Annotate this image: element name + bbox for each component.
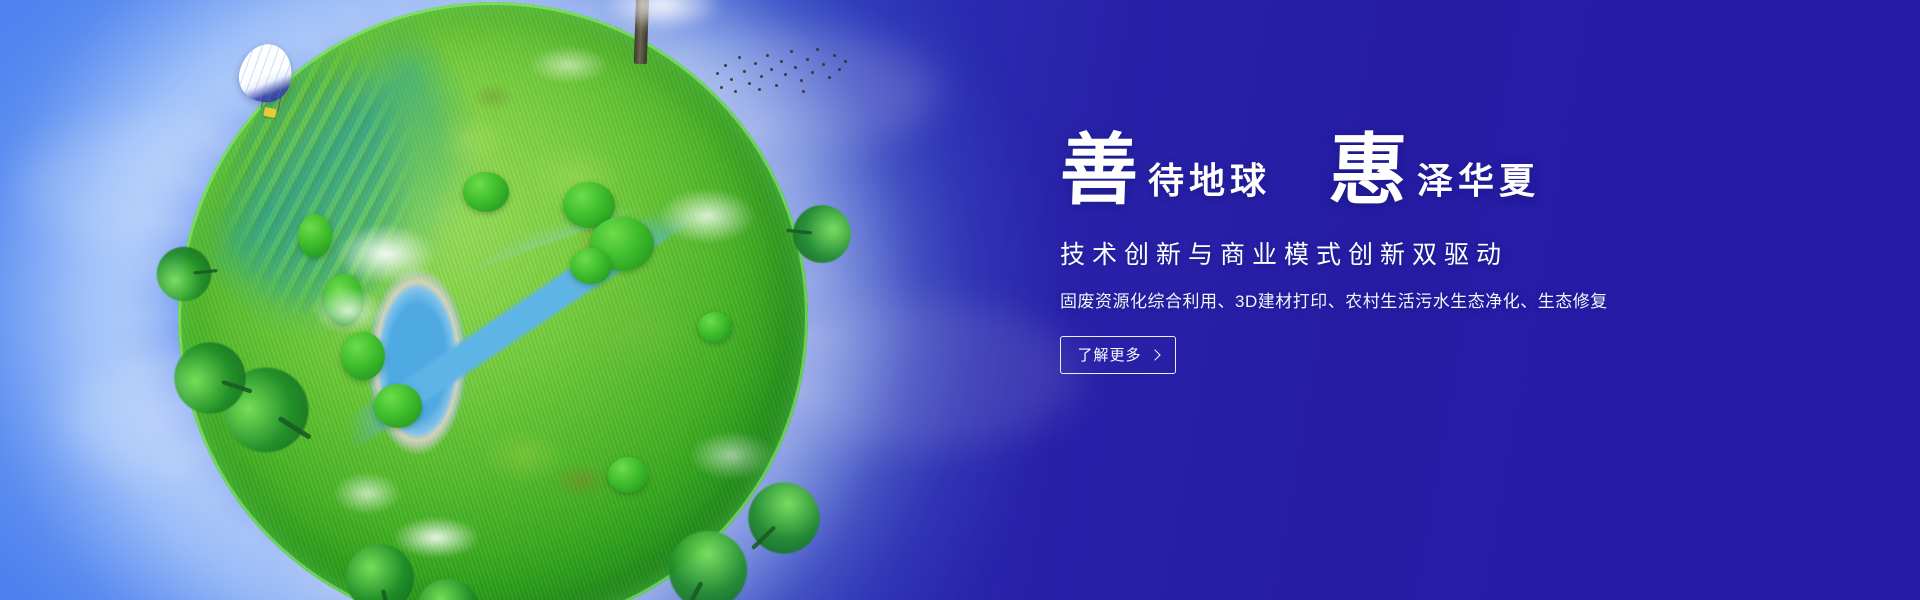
- bird-flock: [712, 42, 852, 98]
- hot-air-balloon: [240, 44, 298, 128]
- headline-small-text-2: 泽华夏: [1417, 163, 1540, 199]
- headline-group-1: 善 待地球: [1060, 128, 1271, 206]
- headline: 善 待地球 惠 泽华夏: [1060, 128, 1760, 224]
- headline-small-text-1: 待地球: [1148, 163, 1271, 199]
- balloon-basket: [263, 107, 277, 118]
- headline-big-char-2: 惠: [1328, 132, 1409, 210]
- headline-group-2: 惠 泽华夏: [1329, 128, 1540, 206]
- learn-more-button[interactable]: 了解更多: [1060, 336, 1176, 374]
- headline-big-char-1: 善: [1059, 132, 1140, 210]
- description: 固废资源化综合利用、3D建材打印、农村生活污水生态净化、生态修复: [1060, 290, 1760, 314]
- chevron-right-icon: [1149, 349, 1160, 360]
- subtitle: 技术创新与商业模式创新双驱动: [1060, 240, 1760, 270]
- hero-copy: 善 待地球 惠 泽华夏 技术创新与商业模式创新双驱动 固废资源化综合利用、3D建…: [1060, 128, 1760, 374]
- tree-mist: [577, 0, 747, 42]
- hero-banner: 善 待地球 惠 泽华夏 技术创新与商业模式创新双驱动 固废资源化综合利用、3D建…: [0, 0, 1920, 600]
- learn-more-label: 了解更多: [1077, 344, 1141, 365]
